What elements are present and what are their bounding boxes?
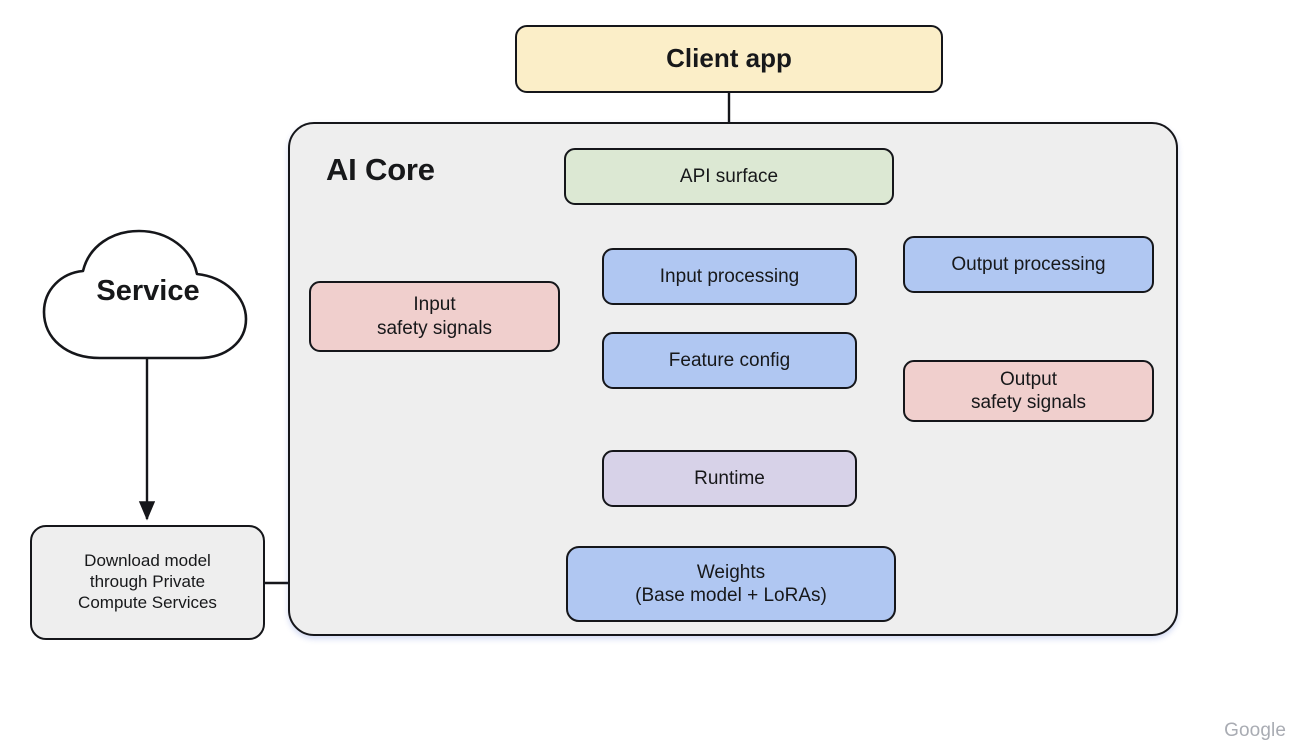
node-output-processing-label: Output processing [943, 253, 1113, 276]
service-label: Service [38, 275, 258, 308]
node-runtime-label: Runtime [686, 467, 773, 490]
node-input-safety-signals[interactable]: Input safety signals [309, 281, 560, 352]
node-download-model[interactable]: Download model through Private Compute S… [30, 525, 265, 640]
node-input-safety-signals-label: Input safety signals [369, 293, 500, 339]
node-api-surface-label: API surface [672, 165, 786, 188]
ai-core-title: AI Core [326, 152, 435, 188]
node-client-app-label: Client app [658, 43, 800, 75]
node-client-app[interactable]: Client app [515, 25, 943, 93]
node-download-model-label: Download model through Private Compute S… [70, 551, 225, 613]
node-output-processing[interactable]: Output processing [903, 236, 1154, 293]
node-input-processing[interactable]: Input processing [602, 248, 857, 305]
node-feature-config[interactable]: Feature config [602, 332, 857, 389]
node-runtime[interactable]: Runtime [602, 450, 857, 507]
diagram-canvas: AI Core Service Client app API surface I… [0, 0, 1304, 756]
node-weights[interactable]: Weights (Base model + LoRAs) [566, 546, 896, 622]
node-input-processing-label: Input processing [652, 265, 807, 288]
node-output-safety-signals[interactable]: Output safety signals [903, 360, 1154, 422]
node-weights-label: Weights (Base model + LoRAs) [627, 561, 835, 607]
node-feature-config-label: Feature config [661, 349, 798, 372]
node-api-surface[interactable]: API surface [564, 148, 894, 205]
node-output-safety-signals-label: Output safety signals [963, 368, 1094, 414]
google-wordmark: Google [1224, 720, 1286, 742]
